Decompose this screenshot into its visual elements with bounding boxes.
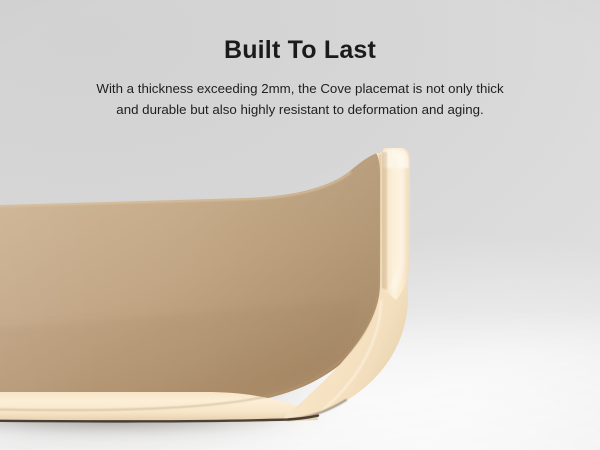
subcopy-line-1: With a thickness exceeding 2mm, the Cove… (50, 78, 550, 100)
banner-subcopy: With a thickness exceeding 2mm, the Cove… (50, 78, 550, 121)
product-feature-banner: Built To Last With a thickness exceeding… (0, 0, 600, 450)
subcopy-line-2: and durable but also highly resistant to… (50, 99, 550, 121)
placemat-rim-inner-shade (382, 152, 387, 290)
page-title: Built To Last (0, 36, 600, 65)
banner-text-block: Built To Last With a thickness exceeding… (0, 36, 600, 121)
